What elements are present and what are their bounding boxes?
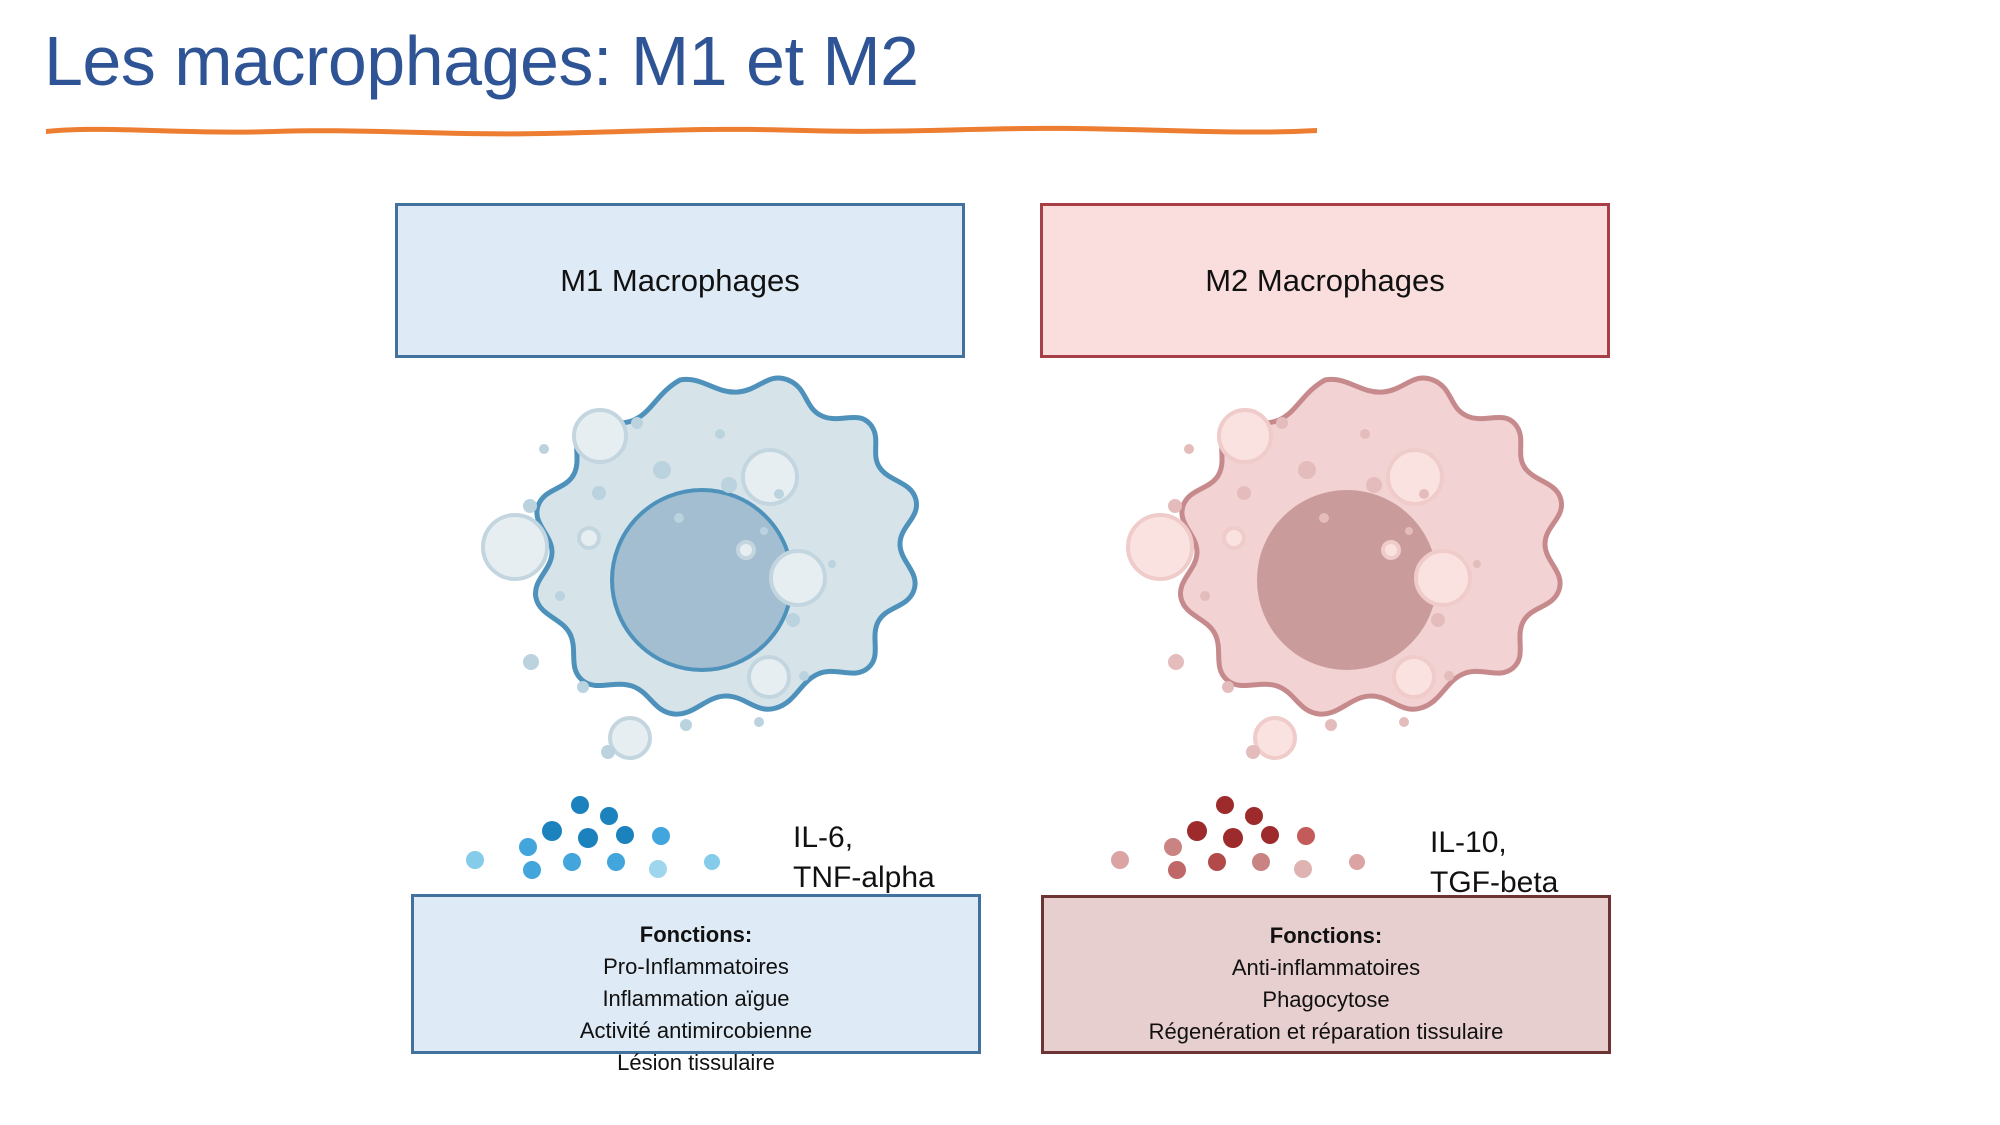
cytokine-dots-m2: [1065, 790, 1395, 900]
cytokine-line-1: IL-6,: [793, 821, 853, 854]
cytokine-label-m2: IL-10, TGF-beta: [1430, 823, 1558, 902]
functions-item: Régenération et réparation tissulaire: [1064, 1016, 1588, 1048]
cytokine-line-2: TNF-alpha: [793, 861, 935, 894]
cytokine-line-2: TGF-beta: [1430, 866, 1558, 899]
functions-item: Lésion tissulaire: [434, 1047, 958, 1079]
header-box-m1[interactable]: M1 Macrophages: [395, 203, 965, 358]
functions-box-m2[interactable]: Fonctions: Anti-inflammatoires Phagocyto…: [1041, 895, 1611, 1054]
slide-canvas: Les macrophages: M1 et M2 M1 Macrophages: [0, 0, 2000, 1125]
header-box-m2[interactable]: M2 Macrophages: [1040, 203, 1610, 358]
header-label-m2: M2 Macrophages: [1205, 263, 1445, 299]
functions-item: Phagocytose: [1064, 984, 1588, 1016]
cytokine-line-1: IL-10,: [1430, 826, 1507, 859]
column-m2: M2 Macrophages: [1025, 0, 1625, 1125]
functions-item: Activité antimircobienne: [434, 1015, 958, 1047]
macrophage-cell-m2: [1025, 366, 1625, 786]
functions-box-m1[interactable]: Fonctions: Pro-Inflammatoires Inflammati…: [411, 894, 981, 1054]
column-m1: M1 Macrophages: [380, 0, 980, 1125]
header-label-m1: M1 Macrophages: [560, 263, 800, 299]
functions-item: Anti-inflammatoires: [1064, 952, 1588, 984]
cytokine-label-m1: IL-6, TNF-alpha: [793, 818, 935, 897]
macrophage-cell-m1: [380, 366, 980, 786]
functions-title-m2: Fonctions:: [1064, 920, 1588, 952]
functions-title-m1: Fonctions:: [434, 919, 958, 951]
functions-item: Pro-Inflammatoires: [434, 951, 958, 983]
cytokine-dots-m1: [420, 790, 750, 900]
functions-item: Inflammation aïgue: [434, 983, 958, 1015]
